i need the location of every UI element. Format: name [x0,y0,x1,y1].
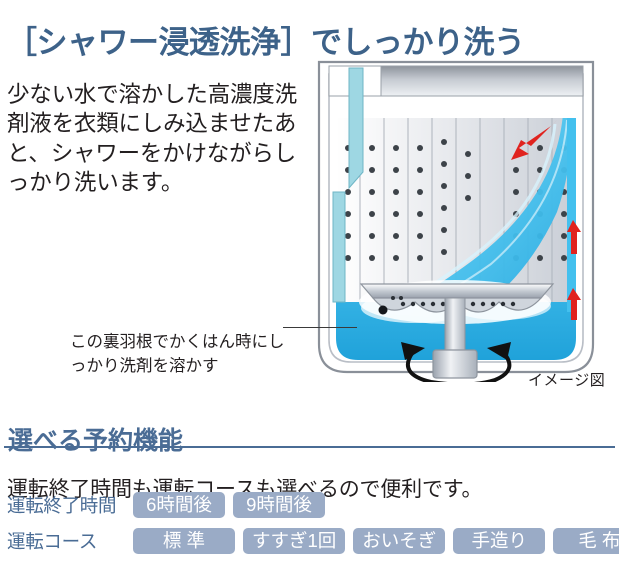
chip-course-standard[interactable]: 標 準 [133,528,235,554]
chip-course-single-rinse[interactable]: すすぎ1回 [243,528,345,554]
chip-course-quick[interactable]: おいそぎ [353,528,445,554]
chip-end-time-6h[interactable]: 6時間後 [133,492,225,518]
end-time-options: 6時間後 9時間後 [133,492,333,518]
callout-leader-line [283,327,357,328]
chip-course-blanket[interactable]: 毛 布 [553,528,619,554]
under-blade-callout: この裏羽根でかくはん時にしっかり洗剤を溶かす [70,330,285,378]
washing-machine-cutaway-illustration [305,52,607,382]
shower-wash-section: ［シャワー浸透洗浄］でしっかり洗う 少ない水で溶かした高濃度洗剤液を衣類にしみ込… [0,0,619,398]
shower-description: 少ない水で溶かした高濃度洗剤液を衣類にしみ込ませたあと、シャワーをかけながらしっ… [7,80,299,198]
image-caption: イメージ図 [528,369,605,390]
spec-label-end-time: 運転終了時間 [7,492,133,518]
motor-base [433,350,477,378]
spec-row-end-time: 運転終了時間 6時間後 9時間後 [7,492,333,518]
left-water-channel [349,68,363,188]
chip-course-handmade[interactable]: 手造り [453,528,545,554]
chip-end-time-9h[interactable]: 9時間後 [233,492,325,518]
spec-label-course: 運転コース [7,528,133,554]
reservation-title: 選べる予約機能 [8,425,183,458]
reservation-section: 選べる予約機能 運転終了時間も運転コースも選べるので便利です。 運転終了時間 6… [0,404,619,569]
course-options: 標 準 すすぎ1回 おいそぎ 手造り 毛 布 [133,528,619,554]
spec-row-course: 運転コース 標 準 すすぎ1回 おいそぎ 手造り 毛 布 [7,528,619,554]
section-divider [4,446,615,448]
motor-shaft [445,298,465,354]
